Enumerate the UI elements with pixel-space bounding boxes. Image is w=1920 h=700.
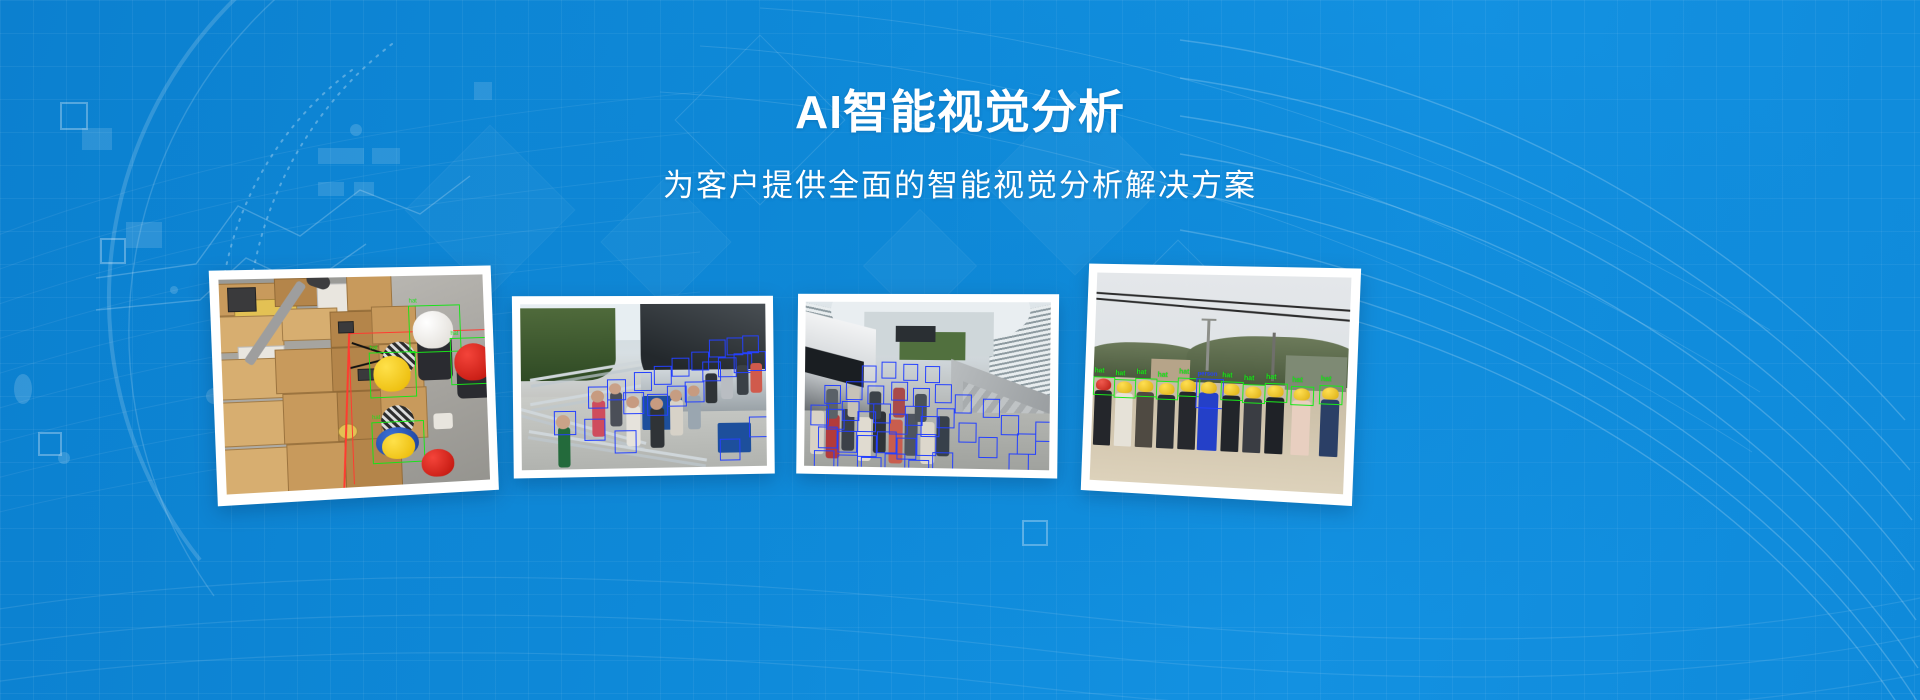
detection-label: hat: [1222, 372, 1233, 380]
detection-label: hat: [1136, 369, 1146, 377]
detection-label: hat: [409, 298, 417, 307]
detection-label: hat: [1266, 374, 1277, 382]
gallery-photo-construction-site[interactable]: hat hat hat hat: [1081, 264, 1361, 507]
detection-label: hat: [1094, 367, 1104, 375]
detection-label: hat: [1179, 369, 1190, 377]
page-subtitle: 为客户提供全面的智能视觉分析解决方案: [0, 167, 1920, 204]
detection-label: person: [1197, 371, 1217, 379]
hero-banner: AI智能视觉分析 为客户提供全面的智能视觉分析解决方案: [0, 0, 1920, 700]
gallery-photo-skywalk[interactable]: [512, 296, 775, 479]
detection-label: hat: [1292, 377, 1303, 386]
headings-block: AI智能视觉分析 为客户提供全面的智能视觉分析解决方案: [0, 86, 1920, 205]
detection-label: hat: [1157, 372, 1167, 380]
detection-box: hat: [371, 420, 425, 464]
detection-label: hat: [450, 330, 458, 339]
detection-label: hat: [369, 344, 378, 353]
detection-box: hat: [369, 351, 418, 398]
detection-label: hat: [372, 414, 381, 423]
gallery-photo-warehouse[interactable]: hat hat hat hat: [209, 265, 499, 506]
detection-label: hat: [1321, 376, 1332, 385]
detection-box: hat: [450, 337, 490, 386]
gallery-photo-station-corridor[interactable]: [796, 294, 1059, 479]
detection-label: hat: [1244, 375, 1255, 383]
detection-box: [554, 411, 577, 435]
detection-label: hat: [1115, 370, 1125, 378]
page-title: AI智能视觉分析: [0, 86, 1920, 139]
